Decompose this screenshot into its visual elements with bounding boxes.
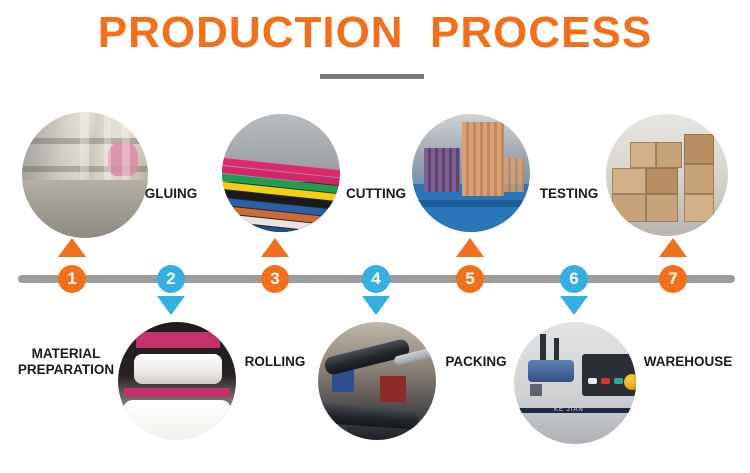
step-arrow-7	[659, 238, 687, 257]
step-arrow-5	[456, 238, 484, 257]
timeline-marker-6[interactable]: 6	[560, 265, 588, 293]
step-arrow-4	[362, 296, 390, 315]
step-arrow-3	[261, 238, 289, 257]
packing-photo	[412, 114, 530, 232]
warehouse-photo	[606, 114, 728, 236]
machine-brand-text: KE JIAN	[554, 407, 584, 413]
cutting-photo	[318, 322, 436, 440]
step-label-testing: TESTING	[534, 186, 604, 202]
step-label-cutting: CUTTING	[342, 186, 410, 202]
rolling-photo	[222, 114, 340, 232]
step-label-rolling: ROLLING	[240, 354, 310, 370]
timeline-marker-1[interactable]: 1	[58, 265, 86, 293]
step-arrow-2	[157, 296, 185, 315]
title-underline	[320, 74, 424, 79]
page-title: PRODUCTION PROCESS	[0, 8, 750, 58]
timeline-marker-3[interactable]: 3	[261, 265, 289, 293]
step-label-material-preparation: MATERIAL PREPARATION	[14, 346, 118, 379]
timeline-marker-5[interactable]: 5	[456, 265, 484, 293]
production-process-infographic: PRODUCTION PROCESS	[0, 0, 750, 473]
step-arrow-6	[560, 296, 588, 315]
step-label-gluing: GLUING	[140, 186, 202, 202]
timeline-marker-4[interactable]: 4	[362, 265, 390, 293]
timeline-marker-7[interactable]: 7	[659, 265, 687, 293]
timeline-marker-2[interactable]: 2	[157, 265, 185, 293]
step-arrow-1	[58, 238, 86, 257]
gluing-photo	[118, 322, 236, 440]
step-label-warehouse: WAREHOUSE	[642, 354, 734, 370]
material-preparation-photo	[22, 112, 148, 238]
testing-photo: KE JIAN	[514, 322, 636, 444]
step-label-packing: PACKING	[440, 354, 512, 370]
